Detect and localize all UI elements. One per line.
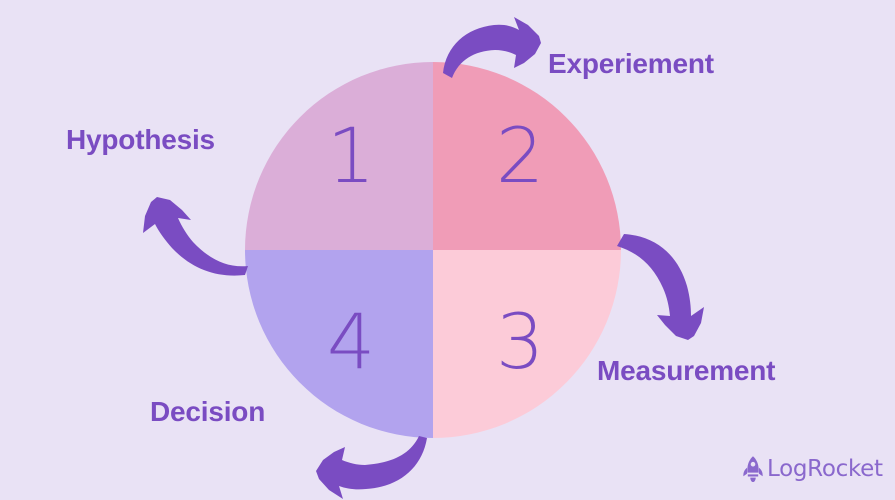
segment-number-3: 3 (496, 304, 544, 380)
segment-hypothesis[interactable]: 1 (245, 62, 433, 250)
stage-label-measurement: Measurement (597, 355, 775, 387)
diagram-canvas: 1 2 3 4 Hypothesis Experiement Measureme… (0, 0, 895, 500)
logrocket-wordmark: LogRocket (767, 456, 883, 482)
stage-label-decision: Decision (150, 396, 265, 428)
cycle-circle: 1 2 3 4 (245, 62, 621, 438)
stage-label-experiement: Experiement (548, 48, 714, 80)
segment-measurement[interactable]: 3 (433, 250, 621, 438)
arrow-decision-to-hypothesis-icon (134, 174, 248, 286)
segment-number-4: 4 (327, 304, 375, 380)
arrow-experiement-to-measurement-icon (612, 228, 712, 340)
stage-label-hypothesis: Hypothesis (66, 124, 215, 156)
segment-experiement[interactable]: 2 (433, 62, 621, 250)
logrocket-logo[interactable]: LogRocket (742, 455, 883, 483)
segment-number-2: 2 (496, 118, 544, 194)
rocket-icon (742, 455, 764, 483)
segment-decision[interactable]: 4 (245, 250, 433, 438)
segment-number-1: 1 (327, 118, 375, 194)
